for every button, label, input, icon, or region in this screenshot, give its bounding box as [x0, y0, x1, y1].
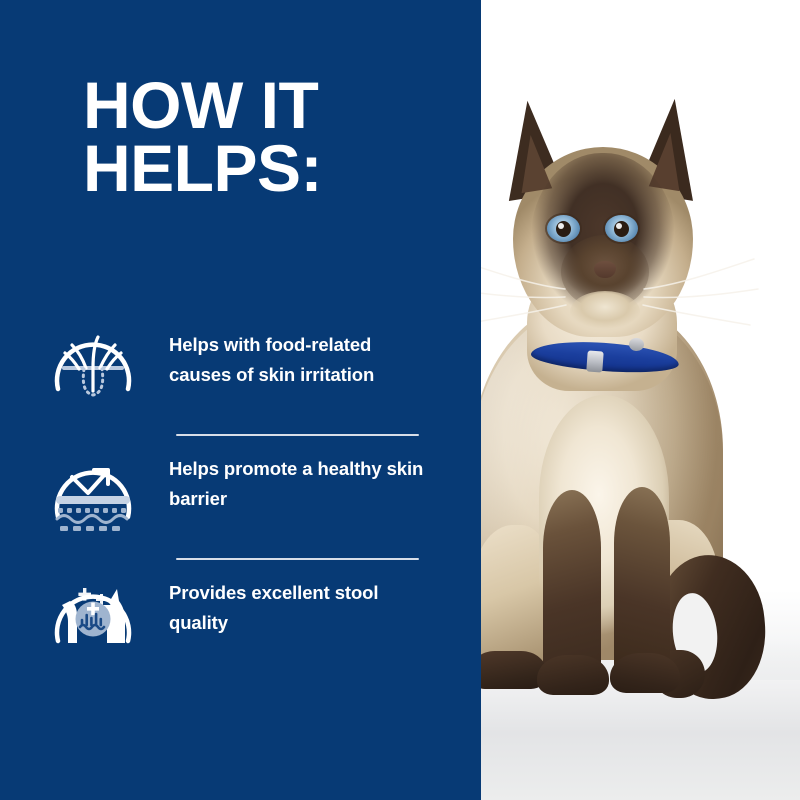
hair-follicle-icon [48, 323, 138, 413]
cat-photo-pane [481, 0, 800, 800]
benefit-divider-2 [176, 558, 419, 560]
benefit-label: Helps promote a healthy skin barrier [169, 454, 431, 514]
cat-whiskers [481, 245, 769, 355]
benefit-item-skin-irritation: Helps with food-related causes of skin i… [0, 318, 481, 430]
benefit-divider-1 [176, 434, 419, 436]
benefits-list: Helps with food-related causes of skin i… [0, 318, 481, 678]
promo-poster: HOW IT HELPS: [0, 0, 800, 800]
benefit-item-skin-barrier: Helps promote a healthy skin barrier [0, 442, 481, 554]
cat-eye-glint-left [558, 223, 564, 229]
benefit-label: Helps with food-related causes of skin i… [169, 330, 431, 390]
benefit-label: Provides excellent stool quality [169, 578, 431, 638]
cat-front-paw-right [610, 653, 680, 693]
page-title: HOW IT HELPS: [83, 74, 463, 201]
cat-eye-glint-right [616, 223, 622, 229]
benefit-item-stool-quality: Provides excellent stool quality [0, 566, 481, 678]
info-panel: HOW IT HELPS: [0, 0, 481, 800]
siamese-cat-illustration [481, 95, 800, 695]
skin-barrier-arrow-icon [48, 447, 138, 537]
cat-digestion-icon [48, 571, 138, 661]
cat-front-paw-left [537, 655, 609, 695]
